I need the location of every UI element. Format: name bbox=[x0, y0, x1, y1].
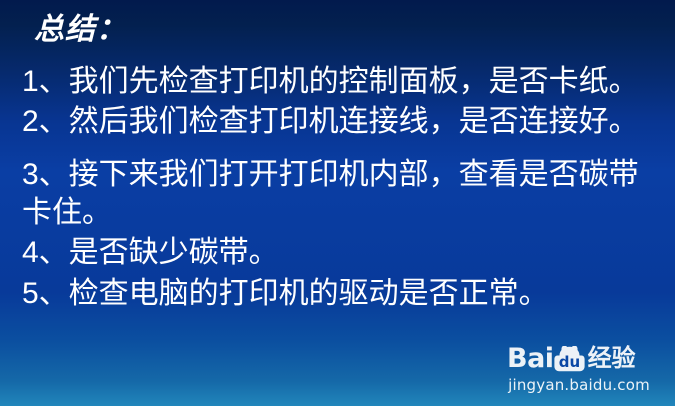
list-item-continuation: 卡住。 bbox=[22, 193, 112, 233]
list-item: 5、检查电脑的打印机的驱动是否正常。 bbox=[22, 274, 549, 314]
baidu-paw-icon: du bbox=[554, 346, 585, 372]
svg-text:du: du bbox=[558, 353, 579, 371]
list-item: 4、是否缺少碳带。 bbox=[22, 233, 279, 273]
list-item: 2、然后我们检查打印机连接线，是否连接好。 bbox=[22, 102, 639, 142]
list-item: 1、我们先检查打印机的控制面板，是否卡纸。 bbox=[22, 62, 639, 102]
slide-canvas: 总结： 1、我们先检查打印机的控制面板，是否卡纸。 2、然后我们检查打印机连接线… bbox=[0, 0, 675, 406]
baidu-wordmark-latin: Bai bbox=[507, 345, 554, 373]
baidu-watermark: Bai du 经验 jingyan.baidu.com bbox=[493, 344, 665, 400]
page-title: 总结： bbox=[34, 11, 127, 49]
watermark-url: jingyan.baidu.com bbox=[493, 375, 665, 395]
baidu-logo: Bai du 经验 bbox=[493, 344, 665, 374]
list-item: 3、接下来我们打开打印机内部，查看是否碳带 bbox=[22, 155, 639, 195]
baidu-wordmark-cn: 经验 bbox=[588, 346, 636, 372]
